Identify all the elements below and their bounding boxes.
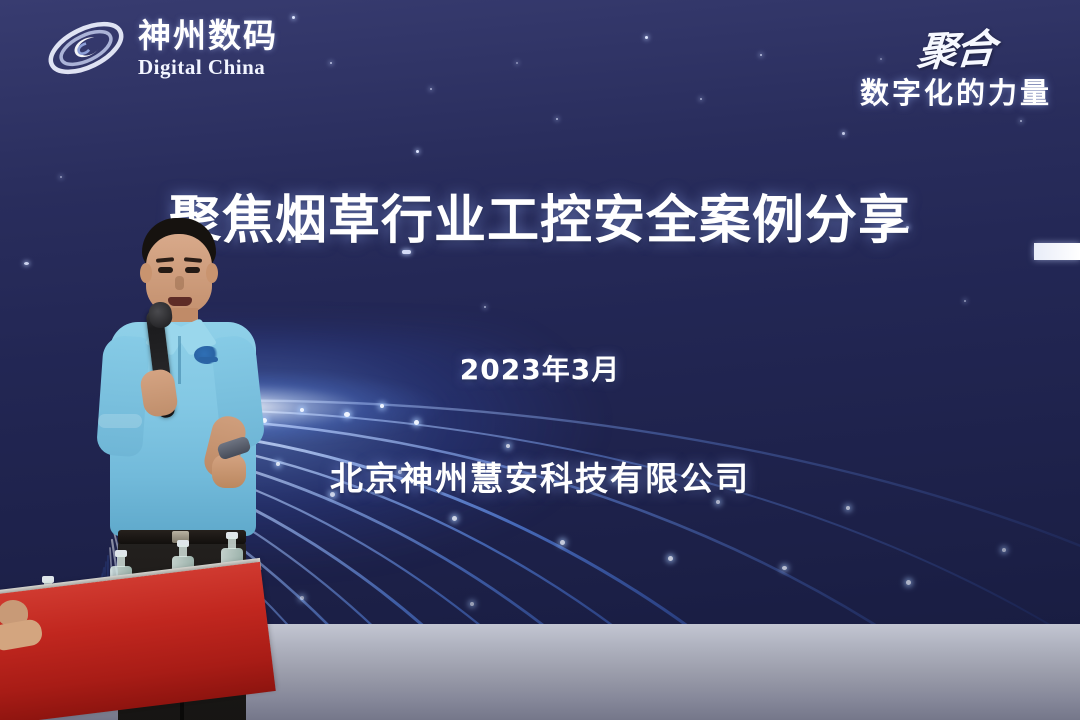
- slogan-script: 聚合: [915, 16, 997, 78]
- digital-china-logo: 神州数码 Digital China: [44, 14, 278, 82]
- stage-photo: 神州数码 Digital China 聚合 数字化的力量 聚焦烟草行业工控安全案…: [0, 0, 1080, 720]
- speaker-nose: [175, 276, 184, 290]
- speaker-sleeve-left: [98, 414, 142, 428]
- spiral-galaxy-icon: [44, 14, 128, 82]
- screen-edge-highlight: [1034, 243, 1080, 260]
- event-slogan-logo: 聚合 数字化的力量: [860, 18, 1052, 112]
- seated-attendee: [0, 600, 54, 658]
- speaker-eye-left: [158, 267, 173, 273]
- speaker-ear-left: [140, 263, 152, 283]
- brand-chinese-name: 神州数码: [138, 19, 278, 52]
- speaker-hand-right: [212, 454, 246, 488]
- polo-chest-logo-icon: [194, 346, 220, 364]
- attendee-hand: [0, 618, 44, 652]
- speaker-shirt-placket: [178, 336, 181, 384]
- slogan-subtitle: 数字化的力量: [860, 70, 1052, 112]
- brand-english-name: Digital China: [138, 57, 278, 78]
- speaker-eye-right: [185, 267, 200, 273]
- speaker-mouth: [168, 297, 192, 306]
- speaker-ear-right: [206, 263, 218, 283]
